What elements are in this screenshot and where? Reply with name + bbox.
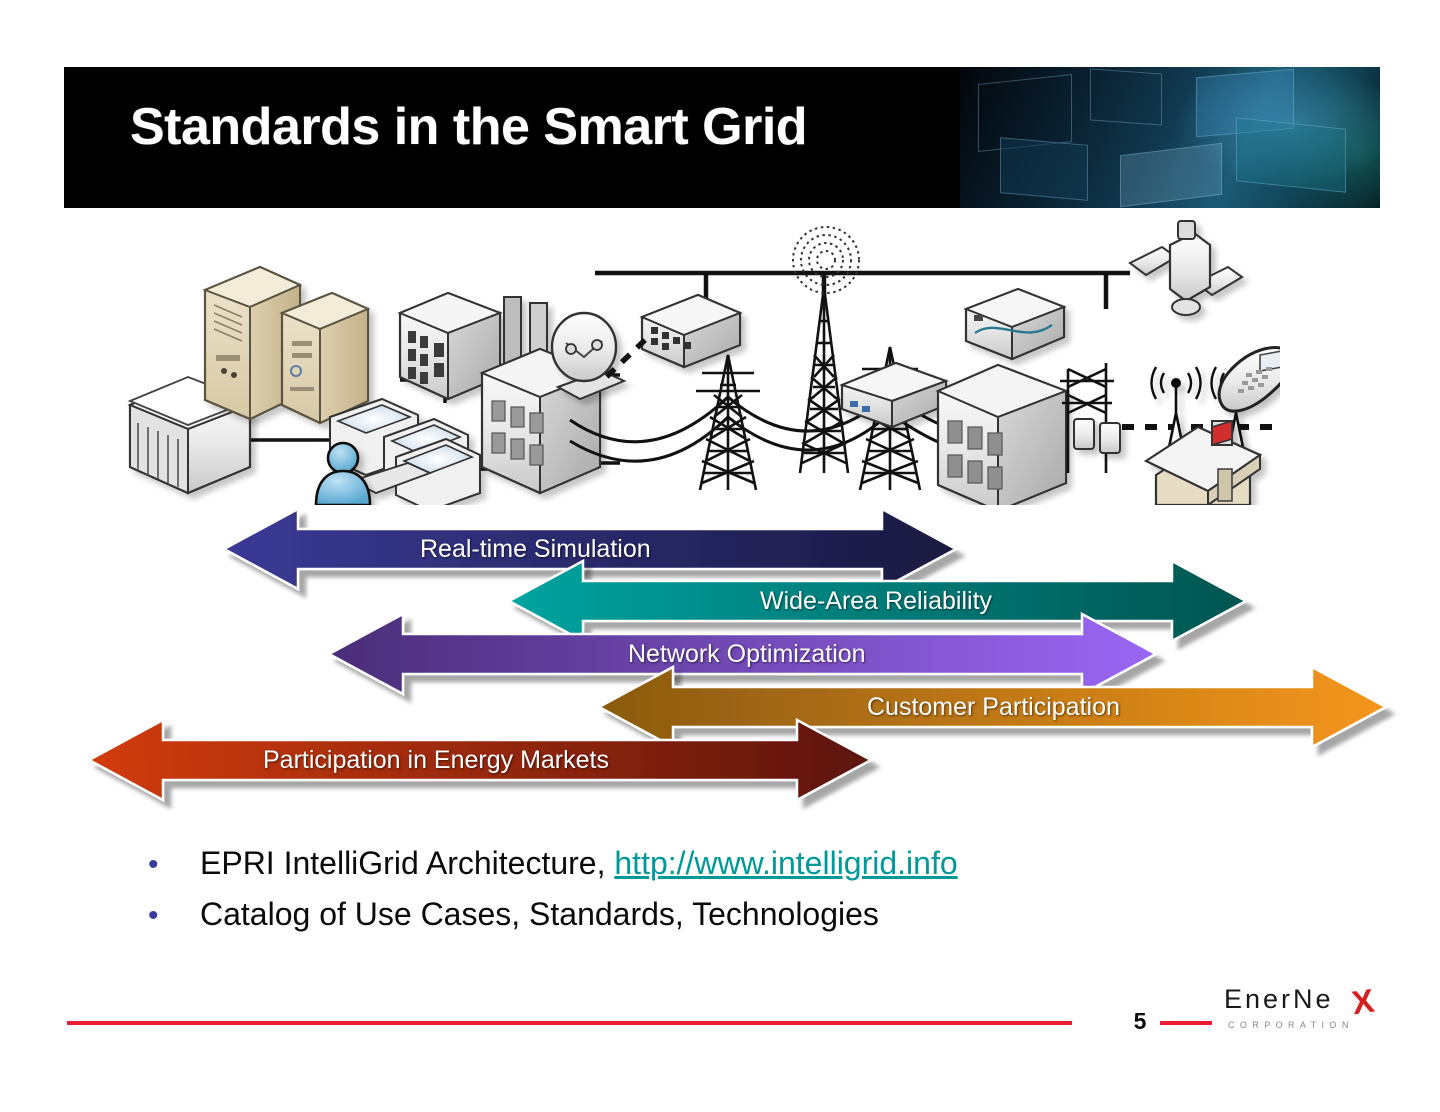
arrow-label-customer-participation: Customer Participation: [867, 695, 1120, 720]
bullet-text: EPRI IntelliGrid Architecture, http://ww…: [200, 845, 958, 882]
satellite-dish-icon: [552, 313, 624, 399]
arrow-label-participation-in-energy-markets: Participation in Energy Markets: [263, 748, 609, 773]
slide-header-bar: Standards in the Smart Grid: [64, 67, 1380, 208]
intelligrid-link[interactable]: http://www.intelligrid.info: [614, 845, 957, 881]
communication-tower-icon: [793, 227, 859, 473]
server-tower-small-icon: [282, 293, 368, 423]
router-icon: [642, 295, 740, 367]
logo-x-mark-icon: X: [1349, 982, 1376, 1023]
house-icon: [1146, 421, 1260, 505]
mobile-phone-icon: [1219, 348, 1280, 412]
technology-collage-image: [960, 67, 1380, 208]
capability-arrow-chart: Real-time Simulation Wide-Area Reliabili…: [60, 495, 1400, 805]
footer-rule-right: [1160, 1021, 1212, 1025]
bullet-text-label: EPRI IntelliGrid Architecture,: [200, 845, 614, 881]
bullet-marker-icon: •: [148, 901, 200, 931]
logo-subtitle: CORPORATION: [1228, 1020, 1354, 1030]
slide-number: 5: [1120, 1008, 1160, 1035]
satellite-icon: [1130, 221, 1242, 315]
page-title: Standards in the Smart Grid: [130, 97, 807, 157]
bullet-text: Catalog of Use Cases, Standards, Technol…: [200, 896, 879, 933]
bullet-marker-icon: •: [148, 850, 200, 880]
arrow-participation-in-energy-markets: Participation in Energy Markets: [85, 714, 875, 806]
wireless-router-icon: [966, 289, 1064, 359]
smart-grid-network-diagram: [100, 205, 1280, 505]
enernex-logo: EnerNe X CORPORATION: [1224, 984, 1382, 1036]
transmission-tower-icon: [696, 355, 760, 490]
list-item: • Catalog of Use Cases, Standards, Techn…: [148, 896, 1248, 933]
logo-wordmark: EnerNe: [1224, 984, 1334, 1015]
list-item: • EPRI IntelliGrid Architecture, http://…: [148, 845, 1248, 882]
bullet-list: • EPRI IntelliGrid Architecture, http://…: [148, 845, 1248, 947]
distribution-transformer-icon: [1074, 419, 1120, 453]
substation-building-icon: [938, 365, 1066, 505]
footer-rule-left: [67, 1021, 1072, 1025]
